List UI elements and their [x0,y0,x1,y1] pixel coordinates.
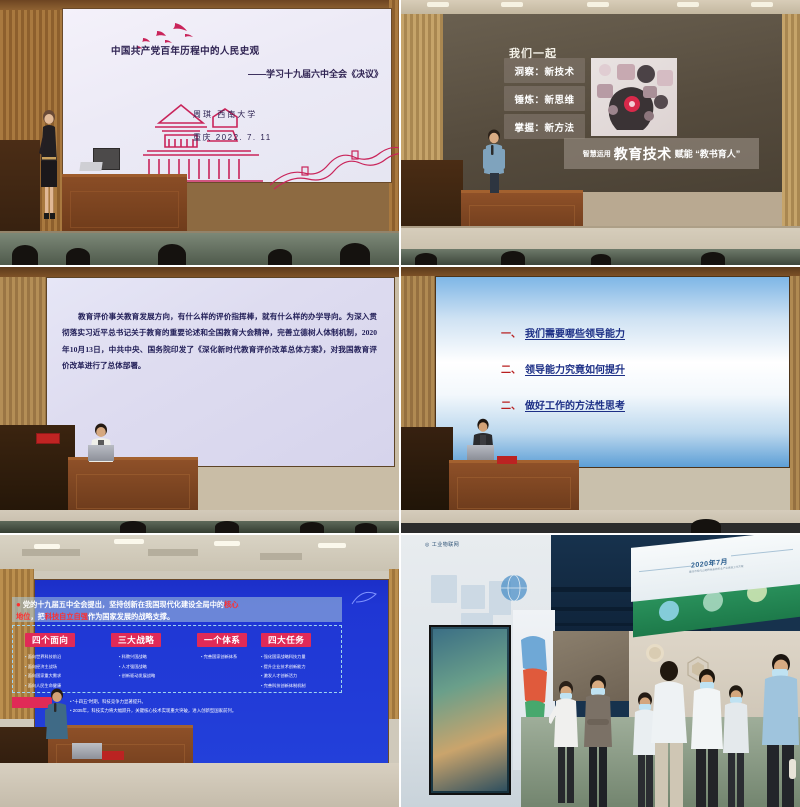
photo-collage-grid: 中国共产党百年历程中的人民史观 ——学习十九届六中全会《决议》 周琪 西南大学 … [0,0,800,807]
display-screen-content [433,629,507,791]
desk-laptop-1 [79,162,102,171]
wall-info-card [431,575,457,603]
slide5-column-caption: 四个面向 [25,633,75,647]
audience-area-1 [0,233,399,265]
slide4-item-text: 我们需要哪些领导能力 [525,325,625,340]
ceiling-light [501,2,523,7]
slide2-banner-medium: 赋能 “教书育人” [675,147,741,160]
slide5-item: 人才强国战略 [119,662,161,672]
slide3-body-text: 教育评价事关教育发展方向，有什么样的评价指挥棒，就有什么样的办学导向。为深入贯彻… [62,309,377,374]
red-name-plate-4 [497,456,517,464]
wood-wall-right-4 [790,267,800,533]
slide4-outline-list: 一、 我们需要哪些领导能力 二、 领导能力究竟如何提升 二、 做好工作的方法性思… [501,325,741,433]
stage-desk-1 [62,174,187,234]
photo-panel-3: 教育评价事关教育发展方向，有什么样的评价指挥棒，就有什么样的办学导向。为深入贯彻… [0,267,399,533]
slide5-column-caption: 一个体系 [197,633,247,647]
slide5-item: 面向世界科技前沿 [25,652,75,662]
wood-wall-right-5 [389,569,399,719]
slide2-item-label: 洞察：新技术 [514,64,574,78]
male-speaker-2 [479,127,509,195]
ceiling-light [318,543,346,548]
slide5-column: 一个体系 完善国家创新体系 [197,630,247,662]
photo-panel-4: 一、 我们需要哪些领导能力 二、 领导能力究竟如何提升 二、 做好工作的方法性思… [401,267,800,533]
slide5-item: 面向经济主战场 [25,662,75,672]
slide5-item: 创新驱动发展战略 [119,671,161,681]
slide4-item-text: 领导能力究竟如何提升 [525,361,625,376]
slide5-item: 完善科技创新体制机制 [261,681,311,691]
photo-panel-6: ◎ 工业物联网 [401,535,800,807]
slide2-item-box: 锤炼：新思维 [504,86,585,111]
wall-info-card [461,613,493,625]
slide5-corner-swirl [348,586,380,610]
slide5-headline-d: ，把 [30,612,44,621]
slide1-date: 重庆 2022. 7. 11 [193,132,373,143]
slide5-item: 提升企业技术创新能力 [261,662,311,672]
slide5-column-caption: 三大战略 [111,633,161,647]
ceiling-light [114,539,144,544]
visitor-right-mid [719,681,753,807]
lectern-4 [401,427,453,515]
ceiling-light [214,541,240,546]
audience-area-2 [401,249,800,265]
slide5-headline-a: 党的十九届五中全会提出，坚持创新在我国现代化建设全局中的 [23,600,224,609]
floor-5 [0,763,399,807]
slide5-footer: “十四五”时期，科技竞争力显著提升。 2035年，科技实力将大幅跃升，关键核心技… [70,698,340,716]
desk-laptop-3 [88,445,114,461]
slide5-headline-f: 作为国家发展的战略支撑。 [88,612,174,621]
stage-desk-3 [68,457,198,515]
ceiling-light [587,2,609,7]
audience-area-3 [0,521,399,533]
slide5-column: 三大战略 科教兴国战略 人才强国战略 创新驱动发展战略 [111,630,161,681]
slide4-outline-row: 二、 做好工作的方法性思考 [501,397,741,412]
visitor-arms-crossed [579,671,617,807]
slide4-item-number: 一、 [501,325,521,340]
visitor-pointing [549,677,583,807]
wall-top-trim-4 [401,267,800,276]
exhibit-logo-label: ◎ 工业物联网 [425,541,459,548]
wall-top-trim-3 [0,267,399,277]
large-display-screen[interactable] [429,625,511,795]
audience-area-4 [401,523,800,533]
ceiling-vent [22,549,80,556]
globe-graphic-icon [497,571,531,605]
slide4-outline-row: 一、 我们需要哪些领导能力 [501,325,741,340]
slide2-banner-small: 智慧运用 [583,149,611,159]
red-name-plate-3 [36,433,60,444]
slide2-item-box: 掌握：新方法 [504,114,585,139]
desk-laptop-5 [72,743,102,759]
slide5-column-items: 强化国家战略科技力量 提升企业技术创新能力 激发人才创新活力 完善科技创新体制机… [261,652,311,691]
slide2-brain-infographic [591,58,677,136]
wood-wall-right-2 [782,14,800,230]
slide1-subtitle: ——学习十九届六中全会《决议》 [125,67,383,80]
slide5-headline-e: 科技自立自强 [45,612,88,621]
female-speaker [37,105,61,225]
photo-panel-1: 中国共产党百年历程中的人民史观 ——学习十九届六中全会《决议》 周琪 西南大学 … [0,0,399,265]
slide5-column: 四个面向 面向世界科技前沿 面向经济主战场 面向国家重大需求 面向人民生命健康 [25,630,75,691]
male-speaker-5 [42,687,72,742]
ceiling-vent [148,549,198,556]
slide5-column-items: 面向世界科技前沿 面向经济主战场 面向国家重大需求 面向人民生命健康 [25,652,75,691]
slide2-banner-large: 教育技术 [614,144,672,164]
slide5-column: 四大任务 强化国家战略科技力量 提升企业技术创新能力 激发人才创新活力 完善科技… [261,630,311,691]
slide5-item: 强化国家战略科技力量 [261,652,311,662]
ceiling-light [677,2,699,7]
slide5-headline: ● 党的十九届五中全会提出，坚持创新在我国现代化建设全局中的核心 地位，把科技自… [12,597,342,622]
slide2-item-label: 掌握：新方法 [514,120,574,134]
slide1-title: 中国共产党百年历程中的人民史观 [111,43,383,57]
ceiling-light [427,2,449,7]
slide1-author: 周琪 西南大学 [193,109,373,120]
slide5-item: 科教兴国战略 [119,652,161,662]
photo-panel-2: 我们一起 洞察：新技术 锤炼：新思维 掌握：新方法 [401,0,800,265]
ceiling-light [751,2,773,7]
slide5-column-items: 科教兴国战略 人才强国战略 创新驱动发展战略 [119,652,161,681]
lectern-1 [0,140,40,245]
slide4-item-text: 做好工作的方法性思考 [525,397,625,412]
slide5-column-items: 完善国家创新体系 [201,652,247,662]
photo-panel-5: ● 党的十九届五中全会提出，坚持创新在我国现代化建设全局中的核心 地位，把科技自… [0,535,399,807]
bullet-dot-icon: ● [16,600,21,609]
slide5-column-caption: 四大任务 [261,633,311,647]
desk-laptop-4 [467,445,494,460]
slide5-item: 完善国家创新体系 [201,652,247,662]
slide5-item: 面向国家重大需求 [25,671,75,681]
great-wall-line-art [268,139,399,191]
slide5-item: 激发人才创新活力 [261,671,311,681]
slide5-columns-box: 四个面向 面向世界科技前沿 面向经济主战场 面向国家重大需求 面向人民生命健康 … [12,625,342,693]
slide5-headline-line-1: ● 党的十九届五中全会提出，坚持创新在我国现代化建设全局中的核心 [16,599,338,611]
slide5-headline-line-2: 地位，把科技自立自强作为国家发展的战略支撑。 [16,611,338,622]
slide4-item-number: 二、 [501,397,521,412]
wall-info-card [461,585,485,609]
slide5-footer-line: 2035年，科技实力将大幅跃升，关键核心技术实现重大突破，进入创新型国家前列。 [70,707,340,716]
visitor-right-front [759,649,800,807]
red-name-plate-5 [102,751,124,760]
slide4-item-number: 二、 [501,361,521,376]
visitor-foreground-back [647,657,691,807]
slide5-headline-c: 地位 [16,612,30,621]
slide2-item-box: 洞察：新技术 [504,58,585,83]
slide5-footer-line: “十四五”时期，科技竞争力显著提升。 [70,698,340,707]
slide2-item-label: 锤炼：新思维 [514,92,574,106]
ceiling-vent [260,553,302,560]
slide2-bottom-banner: 智慧运用 教育技术 赋能 “教书育人” [564,138,759,169]
slide4-outline-row: 二、 领导能力究竟如何提升 [501,361,741,376]
slide5-headline-b: 核心 [224,600,238,609]
stage-desk-4 [449,460,579,515]
